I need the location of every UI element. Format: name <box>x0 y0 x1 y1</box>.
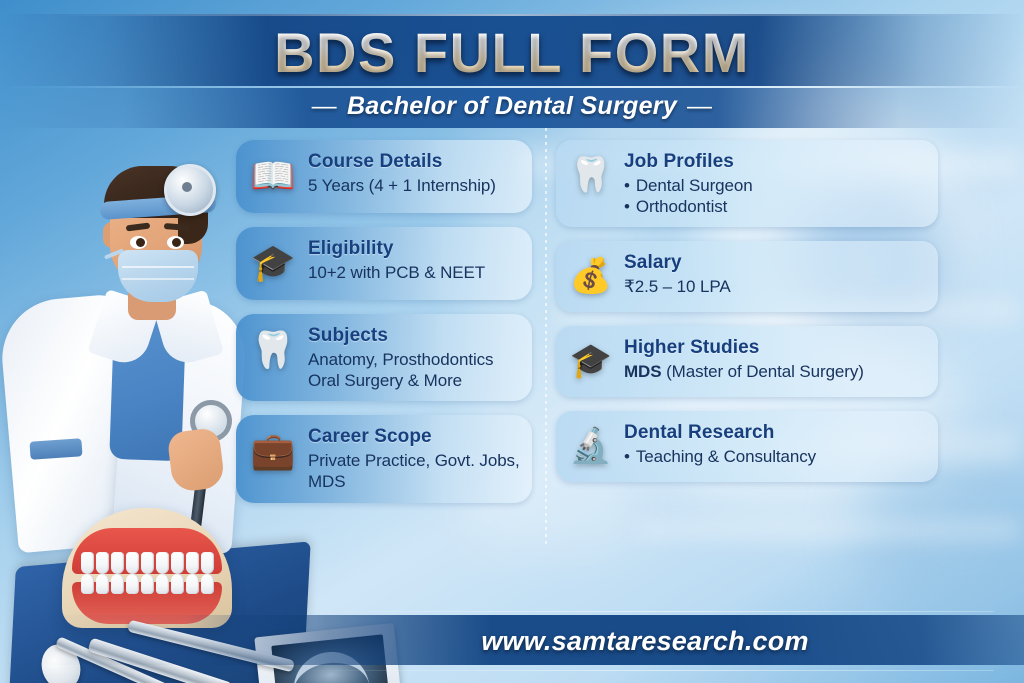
card-job-profiles[interactable]: 🦷 Job Profiles Dental Surgeon Orthodonti… <box>556 140 938 227</box>
tooth-shape <box>111 552 124 574</box>
card-body: Higher Studies MDS (Master of Dental Sur… <box>624 335 926 382</box>
subtitle-dash-right: — <box>677 92 722 121</box>
card-career-scope[interactable]: 💼 Career Scope Private Practice, Govt. J… <box>236 415 532 502</box>
card-title: Higher Studies <box>624 337 926 359</box>
card-title: Eligibility <box>308 238 520 260</box>
card-line: ₹2.5 – 10 LPA <box>624 276 926 297</box>
card-line: Oral Surgery & More <box>308 370 520 391</box>
card-higher-studies[interactable]: 🎓 Higher Studies MDS (Master of Dental S… <box>556 326 938 397</box>
graduation-cap-icon: 🎓 <box>566 335 616 387</box>
tooth-shape <box>141 574 154 594</box>
infographic-poster: BDS FULL FORM —Bachelor of Dental Surger… <box>0 0 1024 683</box>
degree-expansion: (Master of Dental Surgery) <box>661 362 863 381</box>
card-body: Dental Research Teaching & Consultancy <box>624 420 926 467</box>
briefcase-icon: 💼 <box>246 424 300 478</box>
poster-header: BDS FULL FORM —Bachelor of Dental Surger… <box>0 14 1024 124</box>
background-streak <box>640 520 1020 540</box>
open-book-icon: 📖 <box>246 149 300 203</box>
card-body: Subjects Anatomy, Prosthodontics Oral Su… <box>308 323 520 391</box>
card-salary[interactable]: 💰 Salary ₹2.5 – 10 LPA <box>556 241 938 312</box>
microscope-icon: 🔬 <box>566 420 616 472</box>
card-eligibility[interactable]: 🎓 Eligibility 10+2 with PCB & NEET <box>236 227 532 300</box>
tooth-shape <box>96 574 109 594</box>
tooth-shape <box>111 574 124 594</box>
card-body: Course Details 5 Years (4 + 1 Internship… <box>308 149 520 196</box>
card-line: Dental Surgeon <box>624 175 926 196</box>
card-line: Orthodontist <box>624 196 926 217</box>
card-line: MDS <box>308 471 520 492</box>
graduation-cap-icon: 🎓 <box>246 236 300 290</box>
card-title: Salary <box>624 252 926 274</box>
website-url[interactable]: www.samtaresearch.com <box>300 626 990 657</box>
lower-teeth-row <box>74 574 220 594</box>
tooth-shape <box>81 574 94 594</box>
card-title: Career Scope <box>308 426 520 448</box>
tooth-icon: 🦷 <box>246 323 300 377</box>
card-line: Teaching & Consultancy <box>624 446 926 467</box>
page-subtitle: —Bachelor of Dental Surgery— <box>0 92 1024 121</box>
right-card-column: 🦷 Job Profiles Dental Surgeon Orthodonti… <box>556 140 938 496</box>
tooth-shape <box>201 552 214 574</box>
money-bag-icon: 💰 <box>566 250 616 302</box>
card-body: Salary ₹2.5 – 10 LPA <box>624 250 926 297</box>
pupil-right-shape <box>172 238 181 247</box>
card-body: Job Profiles Dental Surgeon Orthodontist <box>624 149 926 217</box>
head-mirror-center-shape <box>182 182 192 192</box>
card-dental-research[interactable]: 🔬 Dental Research Teaching & Consultancy <box>556 411 938 482</box>
card-title: Job Profiles <box>624 151 926 173</box>
tooth-shape <box>201 574 214 594</box>
card-body: Career Scope Private Practice, Govt. Job… <box>308 424 520 492</box>
mask-pleat-shape <box>122 266 194 268</box>
tooth-shape <box>81 552 94 574</box>
subtitle-dash-left: — <box>302 92 347 121</box>
subtitle-text: Bachelor of Dental Surgery <box>347 92 677 120</box>
card-title: Course Details <box>308 151 520 173</box>
card-line: 10+2 with PCB & NEET <box>308 262 520 283</box>
card-line: Anatomy, Prosthodontics <box>308 349 520 370</box>
card-subjects[interactable]: 🦷 Subjects Anatomy, Prosthodontics Oral … <box>236 314 532 401</box>
upper-teeth-row <box>74 552 220 574</box>
card-course-details[interactable]: 📖 Course Details 5 Years (4 + 1 Internsh… <box>236 140 532 213</box>
tooth-shape <box>186 552 199 574</box>
tooth-shape <box>156 574 169 594</box>
coat-pocket-shape <box>29 438 82 460</box>
card-title: Dental Research <box>624 422 926 444</box>
left-card-column: 📖 Course Details 5 Years (4 + 1 Internsh… <box>236 140 532 517</box>
tooth-shape <box>126 552 139 574</box>
card-line: MDS (Master of Dental Surgery) <box>624 361 926 382</box>
tooth-shape <box>126 574 139 594</box>
tooth-shape <box>141 552 154 574</box>
tooth-shape <box>96 552 109 574</box>
tooth-shape <box>171 574 184 594</box>
tooth-icon: 🦷 <box>566 149 616 201</box>
card-body: Eligibility 10+2 with PCB & NEET <box>308 236 520 283</box>
card-line: 5 Years (4 + 1 Internship) <box>308 175 520 196</box>
card-line: Private Practice, Govt. Jobs, <box>308 450 520 471</box>
tooth-shape <box>156 552 169 574</box>
pupil-left-shape <box>136 238 145 247</box>
degree-abbreviation: MDS <box>624 362 661 381</box>
column-divider <box>545 128 547 548</box>
mask-pleat-shape <box>122 278 194 280</box>
page-title: BDS FULL FORM <box>0 20 1024 85</box>
card-title: Subjects <box>308 325 520 347</box>
tooth-shape <box>171 552 184 574</box>
tooth-shape <box>186 574 199 594</box>
